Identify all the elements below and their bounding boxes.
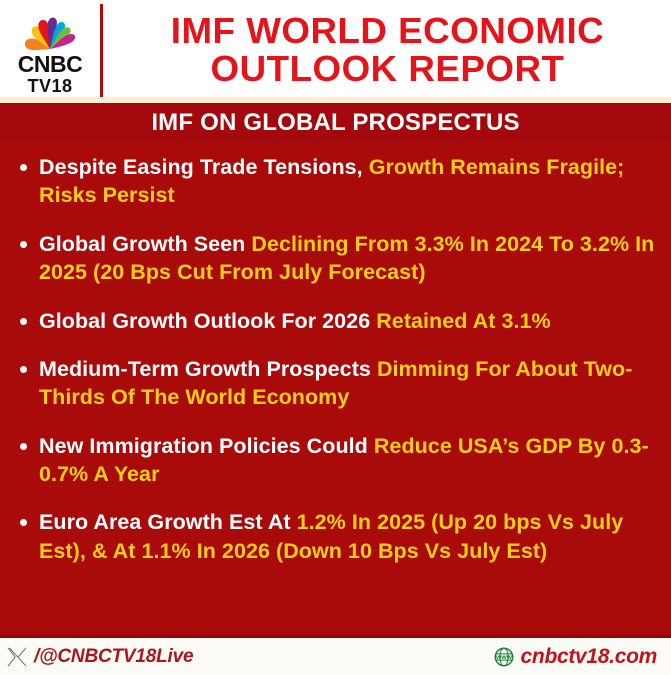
bullet-plain: Global Growth Seen [39,232,251,256]
list-item: New Immigration Policies Could Reduce US… [14,432,657,489]
list-item: Global Growth Seen Declining From 3.3% I… [14,230,657,287]
cnbc-peacock-icon [19,11,81,51]
bullet-text: Medium-Term Growth Prospects Dimming For… [39,355,657,412]
list-item: Despite Easing Trade Tensions, Growth Re… [14,153,657,210]
bullet-highlight: Retained At 3.1% [376,309,550,333]
bullet-text: Global Growth Seen Declining From 3.3% I… [39,230,657,287]
website-group[interactable]: www cnbctv18.com [493,645,657,669]
bullet-text: New Immigration Policies Could Reduce US… [39,432,657,489]
social-handle-group[interactable]: /@CNBCTV18Live [6,646,193,668]
logo-brand-tv18: TV18 [27,77,72,95]
bullet-dot-icon [20,164,27,171]
bullet-plain: Global Growth Outlook For 2026 [39,309,376,333]
subtitle-band: IMF ON GLOBAL PROSPECTUS [0,103,671,143]
list-item: Euro Area Growth Est At 1.2% In 2025 (Up… [14,508,657,565]
bullet-dot-icon [20,241,27,248]
poster-title: IMF WORLD ECONOMIC OUTLOOK REPORT [103,0,671,103]
bullet-plain: Medium-Term Growth Prospects [39,357,377,381]
poster-header: CNBC TV18 IMF WORLD ECONOMIC OUTLOOK REP… [0,0,671,103]
poster-title-line1: IMF WORLD ECONOMIC [170,12,603,49]
list-item: Global Growth Outlook For 2026 Retained … [14,307,657,335]
bullet-plain: Euro Area Growth Est At [39,510,297,534]
bullet-list: Despite Easing Trade Tensions, Growth Re… [0,143,671,635]
poster-footer: /@CNBCTV18Live www cnbctv18.com [0,635,671,675]
poster-title-line2: OUTLOOK REPORT [210,50,564,87]
bullet-dot-icon [20,318,27,325]
bullet-plain: Despite Easing Trade Tensions, [39,155,369,179]
bullet-plain: New Immigration Policies Could [39,434,374,458]
bullet-text: Global Growth Outlook For 2026 Retained … [39,307,657,335]
svg-text:www: www [495,654,513,661]
website-text[interactable]: cnbctv18.com [521,645,657,669]
bullet-text: Euro Area Growth Est At 1.2% In 2025 (Up… [39,508,657,565]
bullet-text: Despite Easing Trade Tensions, Growth Re… [39,153,657,210]
bullet-dot-icon [20,519,27,526]
news-graphic-poster: CNBC TV18 IMF WORLD ECONOMIC OUTLOOK REP… [0,0,671,675]
logo-brand-cnbc: CNBC [18,53,82,76]
social-handle-text[interactable]: /@CNBCTV18Live [34,646,193,668]
bullet-dot-icon [20,366,27,373]
bullet-dot-icon [20,443,27,450]
list-item: Medium-Term Growth Prospects Dimming For… [14,355,657,412]
subtitle-text: IMF ON GLOBAL PROSPECTUS [151,109,519,137]
cnbc-tv18-logo: CNBC TV18 [0,0,100,103]
www-globe-icon[interactable]: www [493,646,515,668]
x-twitter-icon[interactable] [6,646,28,668]
